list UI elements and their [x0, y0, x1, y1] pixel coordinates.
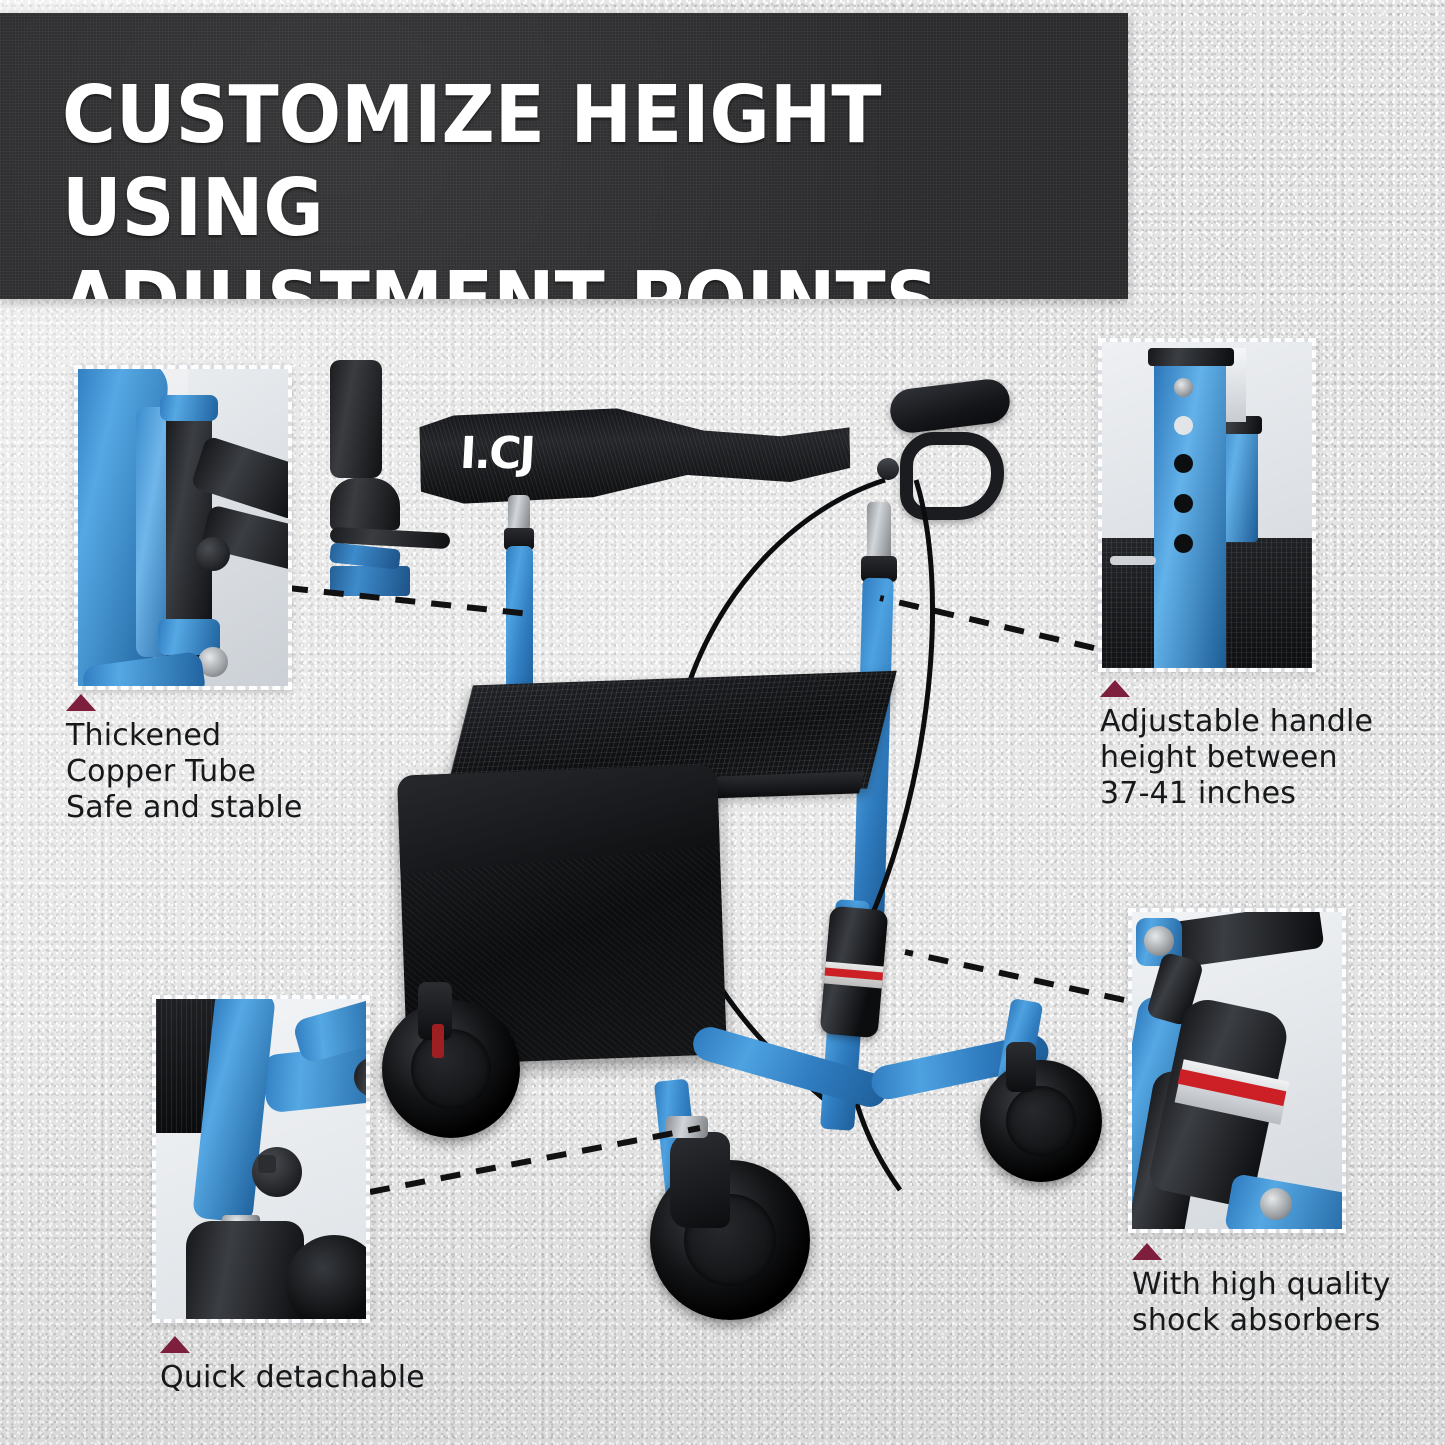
- leader-line-copper-tube: [288, 588, 530, 614]
- leader-line-quick-detachable: [370, 1128, 700, 1192]
- callout-copper-tube-text: Thickened Copper Tube Safe and stable: [66, 718, 303, 826]
- callout-quick-detachable: Quick detachable: [160, 1336, 425, 1396]
- leader-line-shock-absorber: [905, 952, 1124, 1000]
- triangle-marker-icon: [1132, 1243, 1162, 1260]
- leader-line-handle-height: [880, 598, 1094, 648]
- inset-photo-quick-detachable: [152, 995, 370, 1323]
- inset-photo-handle-holes: [1098, 338, 1316, 672]
- callout-shock-absorber: With high quality shock absorbers: [1132, 1243, 1391, 1339]
- inset-photo-shock-absorber: [1128, 908, 1346, 1233]
- triangle-marker-icon: [1100, 680, 1130, 697]
- triangle-marker-icon: [66, 694, 96, 711]
- inset-photo-copper-tube: [74, 365, 292, 690]
- infographic-canvas: CUSTOMIZE HEIGHT USING ADJUSTMENT POINTS…: [0, 0, 1445, 1445]
- callout-handle-height: Adjustable handle height between 37-41 i…: [1100, 680, 1373, 812]
- callout-quick-detachable-text: Quick detachable: [160, 1360, 425, 1396]
- callout-shock-absorber-text: With high quality shock absorbers: [1132, 1267, 1391, 1339]
- callout-handle-height-text: Adjustable handle height between 37-41 i…: [1100, 704, 1373, 812]
- callout-copper-tube: Thickened Copper Tube Safe and stable: [66, 694, 303, 826]
- triangle-marker-icon: [160, 1336, 190, 1353]
